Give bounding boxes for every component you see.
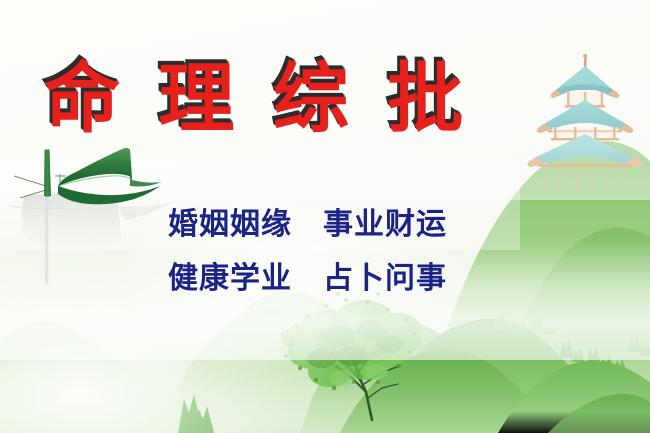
subtitle-block: 婚姻姻缘 事业财运 健康学业 占卜问事 — [168, 206, 508, 298]
subtitle-line-1: 婚姻姻缘 事业财运 — [168, 206, 508, 244]
title-block: 命 理 综 批 — [44, 52, 424, 148]
page-title: 命 理 综 批 — [44, 52, 424, 146]
subtitle-line-2: 健康学业 占卜问事 — [168, 260, 508, 298]
boat-reflection — [10, 194, 172, 284]
banner-canvas: 命 理 综 批 婚姻姻缘 事业财运 健康学业 占卜问事 — [0, 0, 650, 433]
boat-sail — [58, 148, 132, 186]
